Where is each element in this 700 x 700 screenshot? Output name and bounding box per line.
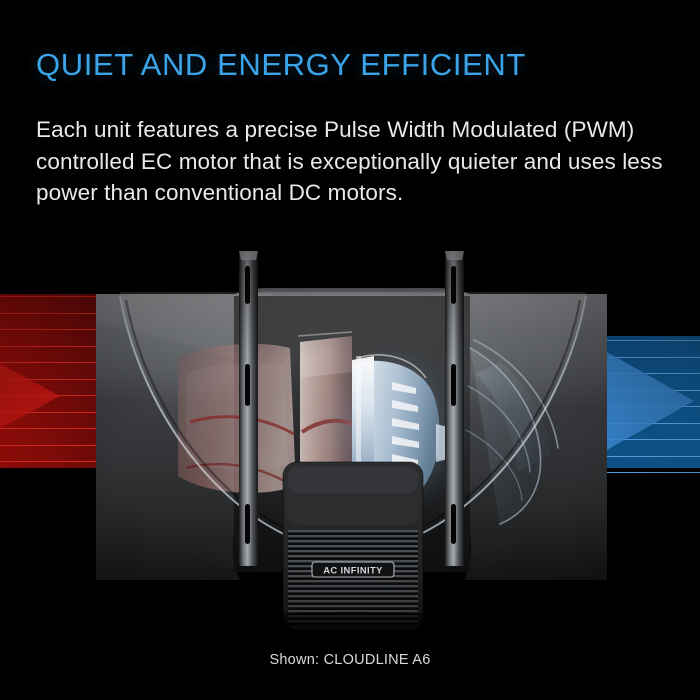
inline-duct-fan: AC INFINITY: [0, 236, 700, 640]
mounting-bracket-right: [445, 251, 464, 566]
heatsink-ridge: [288, 550, 418, 552]
body-paragraph: Each unit features a precise Pulse Width…: [36, 114, 684, 209]
heatsink-ridge: [288, 595, 418, 597]
heatsink-ridge: [288, 555, 418, 557]
heatsink-groove: [288, 557, 418, 560]
heatsink-groove: [288, 547, 418, 550]
heatsink-ridge: [288, 590, 418, 592]
heatsink-groove: [288, 577, 418, 580]
heatsink-ridge: [288, 605, 418, 607]
product-caption: Shown: CLOUDLINE A6: [0, 652, 700, 668]
heatsink-groove: [288, 532, 418, 535]
heatsink-groove: [288, 587, 418, 590]
svg-text:AC INFINITY: AC INFINITY: [323, 565, 383, 576]
ground-shadow: [122, 612, 582, 640]
heatsink-groove: [288, 607, 418, 610]
brand-badge: AC INFINITY: [312, 562, 394, 577]
heatsink-ridge: [288, 535, 418, 537]
page-title: QUIET AND ENERGY EFFICIENT: [36, 47, 526, 83]
heatsink-ridge: [288, 540, 418, 542]
product-illustration: AC INFINITY: [0, 236, 700, 640]
heatsink-groove: [288, 542, 418, 545]
heatsink-groove: [288, 602, 418, 605]
heatsink-groove: [288, 537, 418, 540]
heatsink-groove: [288, 582, 418, 585]
heatsink-ridge: [288, 585, 418, 587]
promo-image-canvas: AC INFINITY QUIET AND ENERGY EFFICIENT E…: [0, 0, 700, 700]
heatsink-groove: [288, 552, 418, 555]
heatsink-groove: [288, 592, 418, 595]
heatsink-ridge: [288, 530, 418, 532]
heatsink-ridge: [288, 580, 418, 582]
mounting-bracket-left: [239, 251, 258, 566]
heatsink-groove: [288, 597, 418, 600]
heatsink-ridge: [288, 545, 418, 547]
control-box: AC INFINITY: [283, 462, 423, 630]
heatsink-ridge: [288, 600, 418, 602]
